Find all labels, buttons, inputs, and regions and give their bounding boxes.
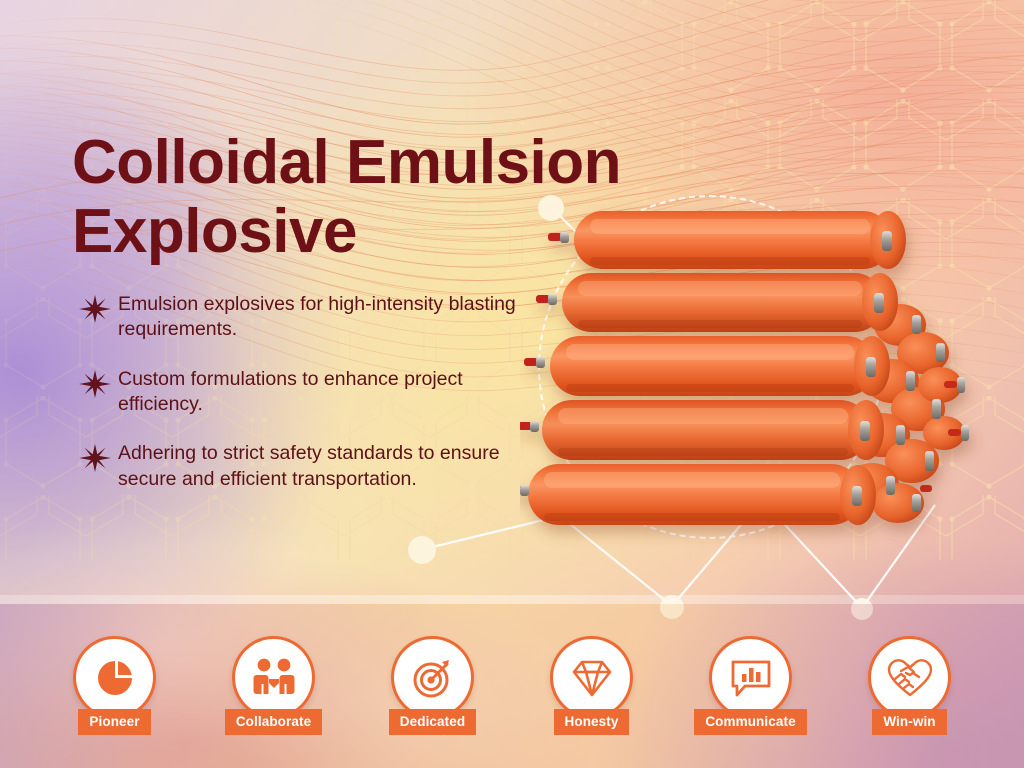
sparkle-star-icon <box>78 369 112 399</box>
value-item-pioneer[interactable]: Pioneer <box>62 636 168 735</box>
value-item-communicate[interactable]: Communicate <box>698 636 804 735</box>
value-label: Pioneer <box>78 709 150 735</box>
value-item-win-win[interactable]: Win-win <box>857 636 963 735</box>
value-label: Honesty <box>554 709 630 735</box>
sparkle-star-icon <box>78 443 112 473</box>
value-icon-circle[interactable] <box>73 636 156 719</box>
feature-list: Emulsion explosives for high-intensity b… <box>78 292 538 492</box>
value-label: Collaborate <box>225 709 322 735</box>
value-item-dedicated[interactable]: Dedicated <box>380 636 486 735</box>
value-label: Communicate <box>694 709 806 735</box>
feature-text: Adhering to strict safety standards to e… <box>118 441 538 492</box>
value-item-collaborate[interactable]: Collaborate <box>221 636 327 735</box>
pie-chart-icon <box>94 657 136 699</box>
value-item-honesty[interactable]: Honesty <box>539 636 645 735</box>
feature-item: Custom formulations to enhance project e… <box>78 367 538 418</box>
promo-slide: Colloidal Emulsion Explosive Emulsion ex… <box>0 0 1024 768</box>
value-icon-circle[interactable] <box>391 636 474 719</box>
value-icon-circle[interactable] <box>709 636 792 719</box>
value-icon-circle[interactable] <box>232 636 315 719</box>
explosive-cartridge-stack <box>520 185 1000 565</box>
two-people-handshake-icon <box>252 657 296 699</box>
core-values-bar: Pioneer Collaborate <box>0 636 1024 746</box>
sparkle-star-icon <box>78 294 112 324</box>
footer-divider-band <box>0 595 1024 604</box>
speech-bubble-bar-chart-icon <box>729 657 773 699</box>
value-icon-circle[interactable] <box>868 636 951 719</box>
product-image <box>520 185 1000 565</box>
target-arrow-icon <box>411 656 455 700</box>
feature-text: Emulsion explosives for high-intensity b… <box>118 292 538 343</box>
feature-item: Emulsion explosives for high-intensity b… <box>78 292 538 343</box>
feature-text: Custom formulations to enhance project e… <box>118 367 538 418</box>
feature-item: Adhering to strict safety standards to e… <box>78 441 538 492</box>
diamond-gem-icon <box>570 657 614 699</box>
value-label: Dedicated <box>389 709 476 735</box>
heart-handshake-icon <box>887 657 933 699</box>
value-label: Win-win <box>872 709 946 735</box>
value-icon-circle[interactable] <box>550 636 633 719</box>
